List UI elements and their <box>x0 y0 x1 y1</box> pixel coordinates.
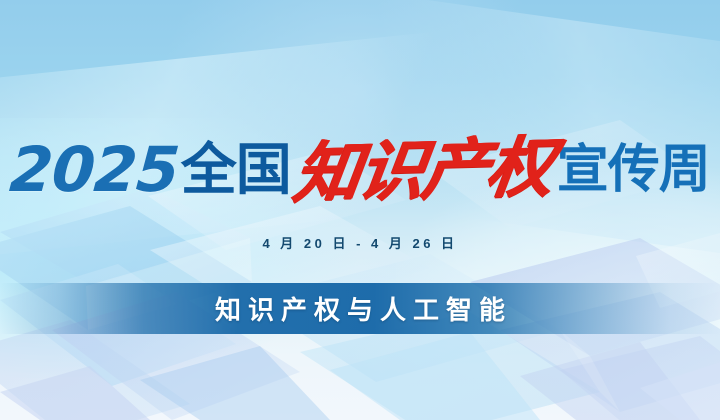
ip-week-banner: 2025 全国 知识产权 宣传周 4 月 20 日 - 4 月 26 日 知识产… <box>0 0 720 420</box>
date-range: 4 月 20 日 - 4 月 26 日 <box>0 233 720 252</box>
banner-title: 2025 全国 知识产权 宣传周 <box>0 128 720 212</box>
title-nation: 全国 <box>181 142 291 198</box>
title-highlight-red: 知识产权 <box>290 134 556 207</box>
title-suffix: 宣传周 <box>557 144 710 196</box>
title-year: 2025 <box>8 139 181 201</box>
subtitle-text: 知识产权与人工智能 <box>208 290 512 327</box>
subtitle-band: 知识产权与人工智能 <box>0 283 720 334</box>
